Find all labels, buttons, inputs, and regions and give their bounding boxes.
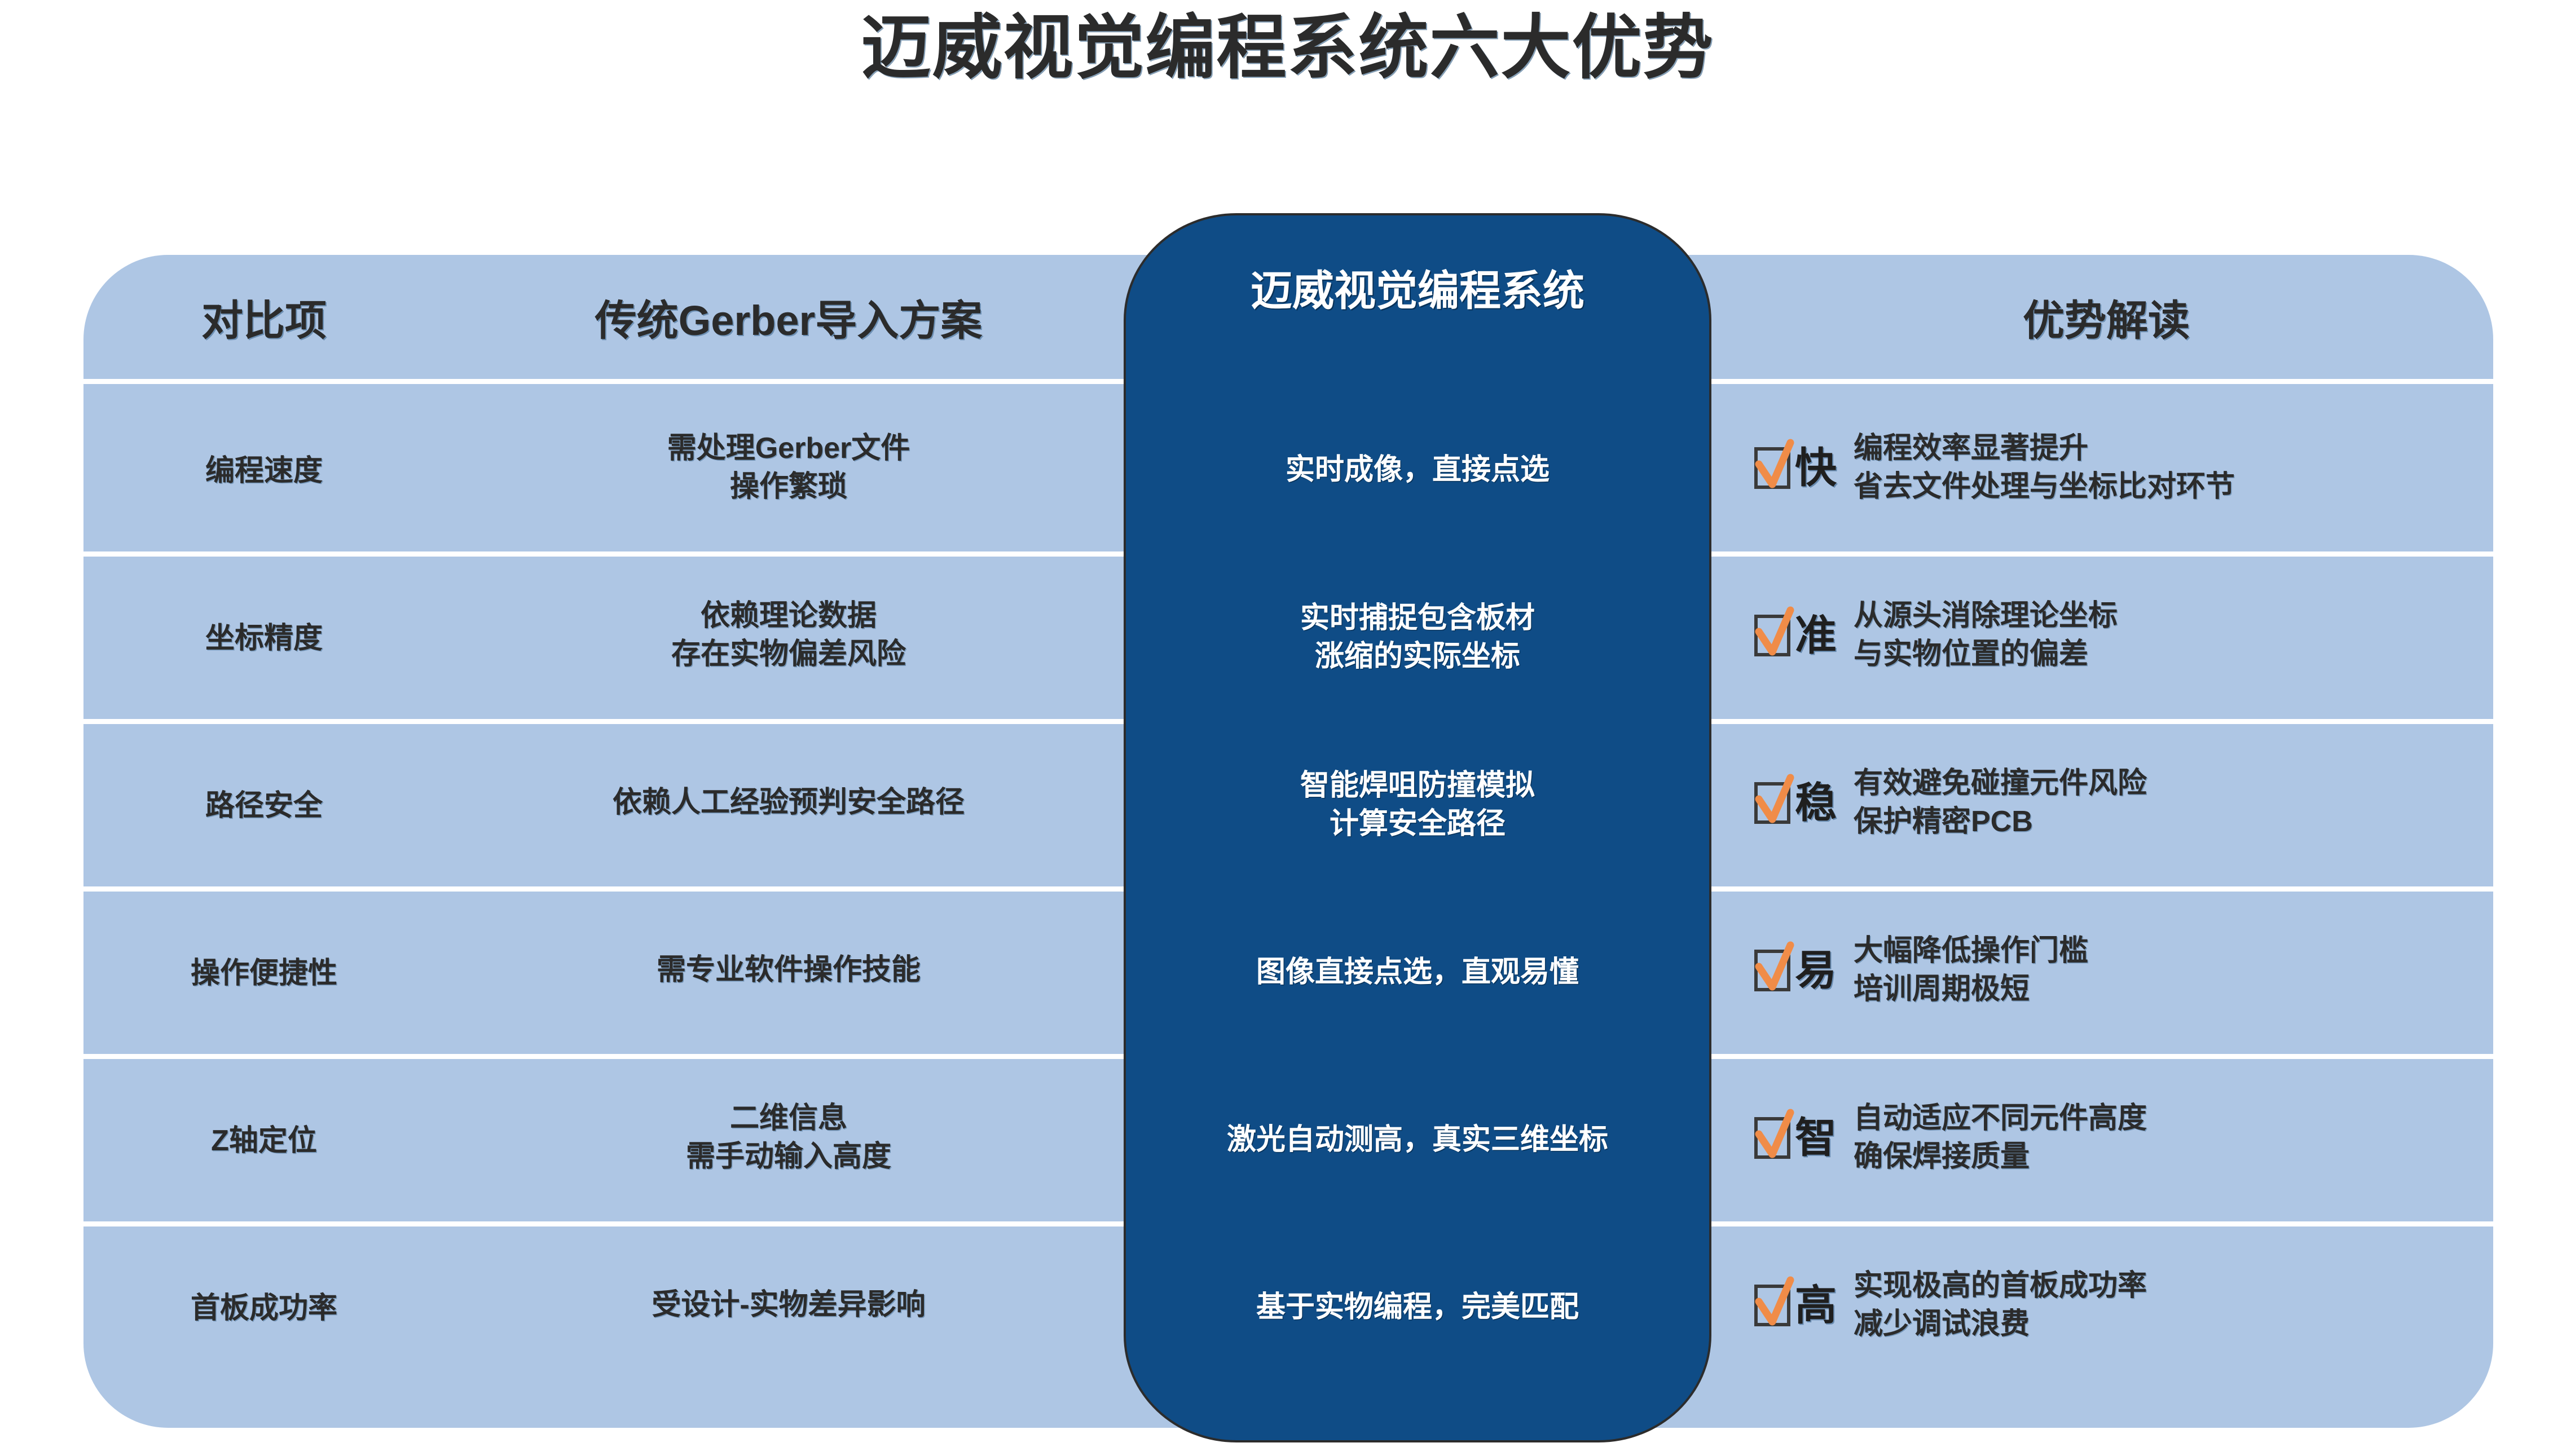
traditional-line2: 存在实物偏差风险 (444, 636, 1133, 674)
advantage-line1: 从源头消除理论坐标 (1854, 597, 2118, 636)
checkbox-checked-icon (1754, 950, 1790, 991)
highlight-cell: 智能焊咀防撞模拟 计算安全路径 (1126, 721, 1709, 889)
highlight-line1: 激光自动测高，真实三维坐标 (1227, 1121, 1608, 1159)
header-traditional: 传统Gerber导入方案 (444, 287, 1133, 347)
traditional-line1: 受设计-实物差异影响 (444, 1286, 1133, 1325)
traditional-line2: 操作繁琐 (444, 468, 1133, 506)
checkbox-checked-icon (1754, 615, 1790, 656)
advantage-line2: 确保焊接质量 (1854, 1138, 2147, 1176)
row-item-label: 操作便捷性 (83, 949, 444, 991)
highlight-line2: 涨缩的实际坐标 (1300, 638, 1535, 676)
highlight-line1: 智能焊咀防撞模拟 (1300, 767, 1535, 805)
advantage-keyword: 高 (1795, 1285, 1837, 1326)
traditional-line1: 二维信息 (444, 1100, 1133, 1138)
row-item-label: Z轴定位 (83, 1117, 444, 1159)
traditional-line2: 需手动输入高度 (444, 1138, 1133, 1176)
advantage-line2: 减少调试浪费 (1854, 1305, 2147, 1344)
highlight-line1: 实时捕捉包含板材 (1300, 599, 1535, 638)
highlight-cell: 图像直接点选，直观易懂 (1126, 889, 1709, 1056)
row-traditional: 依赖人工经验预判安全路径 (444, 784, 1133, 822)
advantage-keyword: 稳 (1795, 782, 1837, 824)
highlight-line1: 实时成像，直接点选 (1286, 451, 1550, 489)
traditional-line1: 依赖人工经验预判安全路径 (444, 784, 1133, 822)
row-advantage: 智 自动适应不同元件高度 确保焊接质量 (1719, 1100, 2493, 1176)
highlight-cell: 实时成像，直接点选 (1126, 386, 1709, 554)
row-traditional: 二维信息 需手动输入高度 (444, 1100, 1133, 1176)
highlight-cell: 基于实物编程，完美匹配 (1126, 1224, 1709, 1391)
traditional-line1: 需专业软件操作技能 (444, 951, 1133, 990)
highlight-column-header: 迈威视觉编程系统 (1126, 257, 1709, 317)
row-item-label: 编程速度 (83, 447, 444, 489)
advantage-line1: 实现极高的首板成功率 (1854, 1267, 2147, 1305)
advantage-keyword: 快 (1795, 447, 1837, 489)
row-traditional: 依赖理论数据 存在实物偏差风险 (444, 597, 1133, 673)
advantage-line2: 省去文件处理与坐标比对环节 (1854, 468, 2235, 506)
advantage-line2: 保护精密PCB (1854, 803, 2147, 841)
checkbox-checked-icon (1754, 1117, 1790, 1159)
checkbox-checked-icon (1754, 447, 1790, 489)
advantage-line1: 大幅降低操作门槛 (1854, 932, 2088, 970)
row-item-label: 路径安全 (83, 782, 444, 824)
advantage-line1: 自动适应不同元件高度 (1854, 1100, 2147, 1138)
header-item: 对比项 (83, 287, 444, 347)
highlight-line2: 计算安全路径 (1300, 805, 1535, 844)
row-advantage: 准 从源头消除理论坐标 与实物位置的偏差 (1719, 597, 2493, 673)
checkbox-checked-icon (1754, 1285, 1790, 1326)
row-traditional: 需专业软件操作技能 (444, 951, 1133, 990)
highlight-column: 迈威视觉编程系统 实时成像，直接点选 实时捕捉包含板材 涨缩的实际坐标 智能焊咀… (1124, 213, 1711, 1442)
page-title: 迈威视觉编程系统六大优势 (0, 5, 2575, 92)
row-advantage: 稳 有效避免碰撞元件风险 保护精密PCB (1719, 765, 2493, 841)
row-traditional: 需处理Gerber文件 操作繁琐 (444, 430, 1133, 506)
traditional-line1: 需处理Gerber文件 (444, 430, 1133, 468)
advantage-line1: 编程效率显著提升 (1854, 430, 2235, 468)
highlight-cell: 激光自动测高，真实三维坐标 (1126, 1056, 1709, 1224)
advantage-line2: 与实物位置的偏差 (1854, 636, 2118, 674)
row-item-label: 坐标精度 (83, 614, 444, 656)
row-traditional: 受设计-实物差异影响 (444, 1286, 1133, 1325)
traditional-line1: 依赖理论数据 (444, 597, 1133, 636)
row-advantage: 高 实现极高的首板成功率 减少调试浪费 (1719, 1267, 2493, 1343)
advantage-line1: 有效避免碰撞元件风险 (1854, 765, 2147, 803)
row-advantage: 快 编程效率显著提升 省去文件处理与坐标比对环节 (1719, 430, 2493, 506)
highlight-cell: 实时捕捉包含板材 涨缩的实际坐标 (1126, 554, 1709, 721)
checkbox-checked-icon (1754, 782, 1790, 824)
advantage-line2: 培训周期极短 (1854, 970, 2088, 1009)
advantage-keyword: 准 (1795, 615, 1837, 656)
row-item-label: 首板成功率 (83, 1284, 444, 1326)
row-advantage: 易 大幅降低操作门槛 培训周期极短 (1719, 932, 2493, 1008)
highlight-line1: 基于实物编程，完美匹配 (1256, 1289, 1579, 1327)
advantage-keyword: 易 (1795, 950, 1837, 991)
header-advantage: 优势解读 (1719, 287, 2493, 347)
highlight-line1: 图像直接点选，直观易懂 (1256, 954, 1579, 992)
advantage-keyword: 智 (1795, 1117, 1837, 1159)
